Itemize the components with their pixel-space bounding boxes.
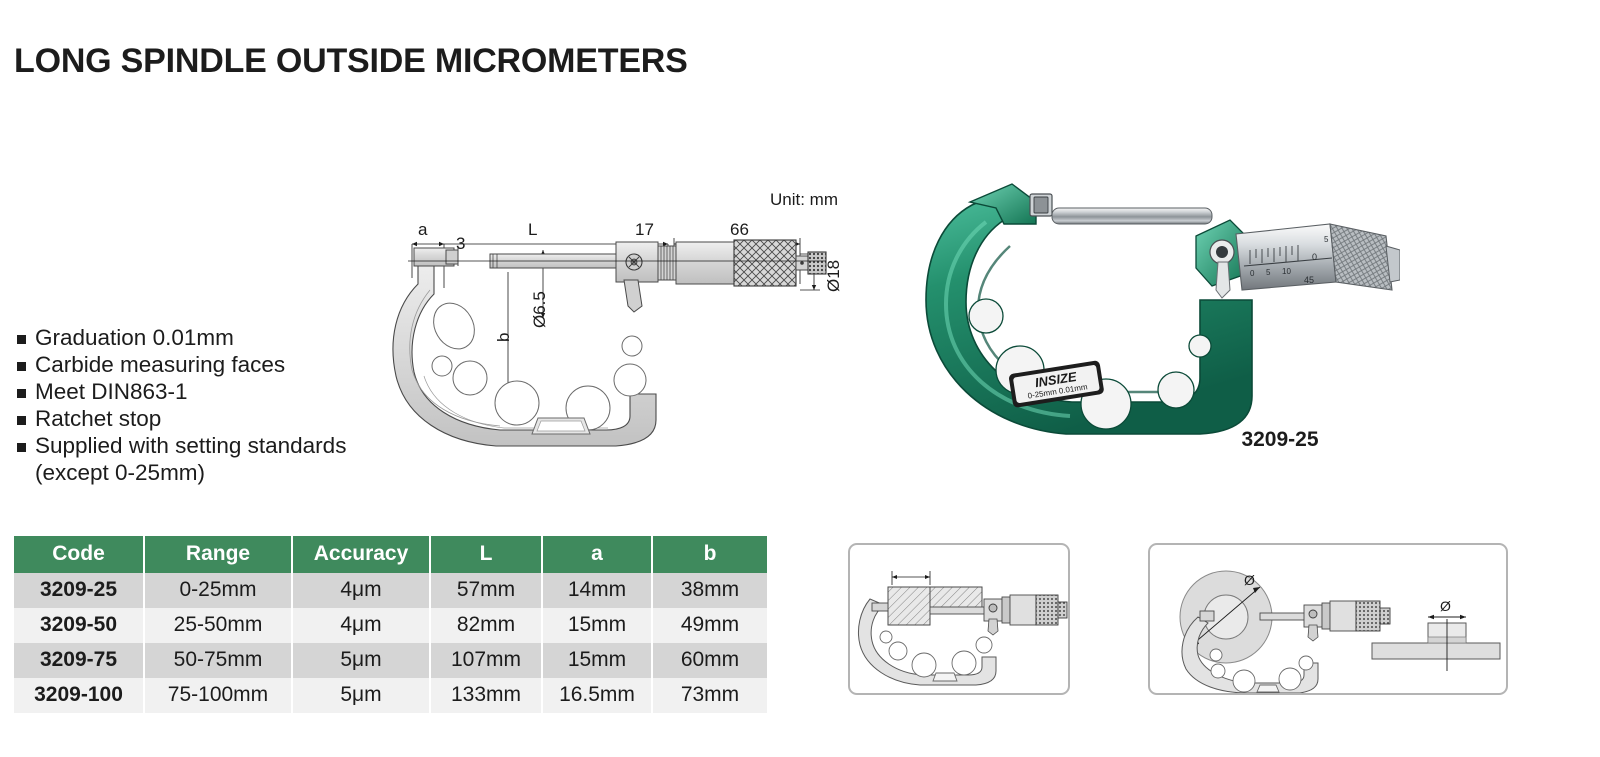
- table-header-row: Code Range Accuracy L a b: [14, 536, 767, 573]
- product-caption: 3209-25: [1190, 428, 1370, 452]
- feature-label: Meet DIN863-1: [35, 379, 188, 405]
- feature-continuation: (except 0-25mm): [14, 460, 434, 486]
- list-item: Graduation 0.01mm: [14, 325, 434, 351]
- dimension-label-a: a: [418, 220, 427, 240]
- bullet-square-icon: [17, 335, 26, 344]
- cell-range: 25-50mm: [144, 608, 292, 643]
- step-measurement-illustration: [850, 545, 1068, 693]
- svg-text:5: 5: [1324, 235, 1329, 244]
- micrometer-product-illustration: INSIZE 0-25mm 0.01mm 0 5 10 0: [900, 150, 1400, 440]
- cell-code: 3209-50: [14, 608, 144, 643]
- svg-text:45: 45: [1304, 275, 1314, 285]
- feature-label: Carbide measuring faces: [35, 352, 285, 378]
- page-title: LONG SPINDLE OUTSIDE MICROMETERS: [14, 42, 688, 81]
- feature-label: Supplied with setting standards: [35, 433, 346, 459]
- diameter-measurement-illustration: Ø: [1150, 545, 1506, 693]
- svg-text:0: 0: [1312, 252, 1317, 262]
- specification-table: Code Range Accuracy L a b 3209-25 0-25mm…: [14, 536, 767, 713]
- column-header-accuracy: Accuracy: [292, 536, 430, 573]
- cell-b: 49mm: [652, 608, 767, 643]
- list-item: Supplied with setting standards: [14, 433, 434, 459]
- bullet-square-icon: [17, 416, 26, 425]
- table-row[interactable]: 3209-25 0-25mm 4μm 57mm 14mm 38mm: [14, 573, 767, 608]
- dimension-label-b: b: [494, 333, 514, 342]
- column-header-b: b: [652, 536, 767, 573]
- list-item: Meet DIN863-1: [14, 379, 434, 405]
- table-row[interactable]: 3209-50 25-50mm 4μm 82mm 15mm 49mm: [14, 608, 767, 643]
- diameter-symbol-left: Ø: [1244, 572, 1255, 588]
- column-header-code: Code: [14, 536, 144, 573]
- cell-l: 57mm: [430, 573, 542, 608]
- list-item: Carbide measuring faces: [14, 352, 434, 378]
- column-header-range: Range: [144, 536, 292, 573]
- column-header-a: a: [542, 536, 652, 573]
- feature-list: Graduation 0.01mm Carbide measuring face…: [14, 325, 434, 486]
- list-item: Ratchet stop: [14, 406, 434, 432]
- cell-l: 133mm: [430, 678, 542, 713]
- cell-accuracy: 5μm: [292, 678, 430, 713]
- cell-a: 14mm: [542, 573, 652, 608]
- cell-a: 15mm: [542, 643, 652, 678]
- cell-accuracy: 5μm: [292, 643, 430, 678]
- cell-a: 15mm: [542, 608, 652, 643]
- feature-label: Ratchet stop: [35, 406, 161, 432]
- cell-b: 38mm: [652, 573, 767, 608]
- catalog-page: LONG SPINDLE OUTSIDE MICROMETERS Graduat…: [0, 0, 1600, 757]
- bullet-square-icon: [17, 362, 26, 371]
- unit-label: Unit: mm: [770, 190, 838, 210]
- cell-accuracy: 4μm: [292, 608, 430, 643]
- svg-text:10: 10: [1282, 267, 1291, 276]
- cell-l: 82mm: [430, 608, 542, 643]
- dimension-label-diameter-18: Ø18: [824, 260, 844, 292]
- table-row[interactable]: 3209-100 75-100mm 5μm 133mm 16.5mm 73mm: [14, 678, 767, 713]
- application-diagram-diameter: Ø: [1148, 543, 1508, 695]
- application-diagram-step: [848, 543, 1070, 695]
- diameter-symbol-right: Ø: [1440, 598, 1451, 614]
- technical-drawing: Unit: mm: [380, 180, 850, 470]
- cell-code: 3209-75: [14, 643, 144, 678]
- cell-accuracy: 4μm: [292, 573, 430, 608]
- cell-code: 3209-100: [14, 678, 144, 713]
- column-header-l: L: [430, 536, 542, 573]
- dimension-label-diameter-6-5: Ø6.5: [530, 291, 550, 328]
- cell-range: 50-75mm: [144, 643, 292, 678]
- cell-b: 73mm: [652, 678, 767, 713]
- dimension-label-3: 3: [456, 234, 465, 254]
- product-photo: INSIZE 0-25mm 0.01mm 0 5 10 0: [900, 150, 1400, 440]
- table-row[interactable]: 3209-75 50-75mm 5μm 107mm 15mm 60mm: [14, 643, 767, 678]
- cell-code: 3209-25: [14, 573, 144, 608]
- bullet-square-icon: [17, 443, 26, 452]
- cell-a: 16.5mm: [542, 678, 652, 713]
- cell-range: 0-25mm: [144, 573, 292, 608]
- svg-text:5: 5: [1266, 268, 1271, 277]
- dimension-label-17: 17: [635, 220, 654, 240]
- dimension-label-66: 66: [730, 220, 749, 240]
- cell-l: 107mm: [430, 643, 542, 678]
- cell-b: 60mm: [652, 643, 767, 678]
- feature-label: Graduation 0.01mm: [35, 325, 234, 351]
- bullet-square-icon: [17, 389, 26, 398]
- micrometer-line-drawing: [380, 180, 850, 470]
- dimension-label-L: L: [528, 220, 537, 240]
- cell-range: 75-100mm: [144, 678, 292, 713]
- svg-text:0: 0: [1250, 269, 1255, 278]
